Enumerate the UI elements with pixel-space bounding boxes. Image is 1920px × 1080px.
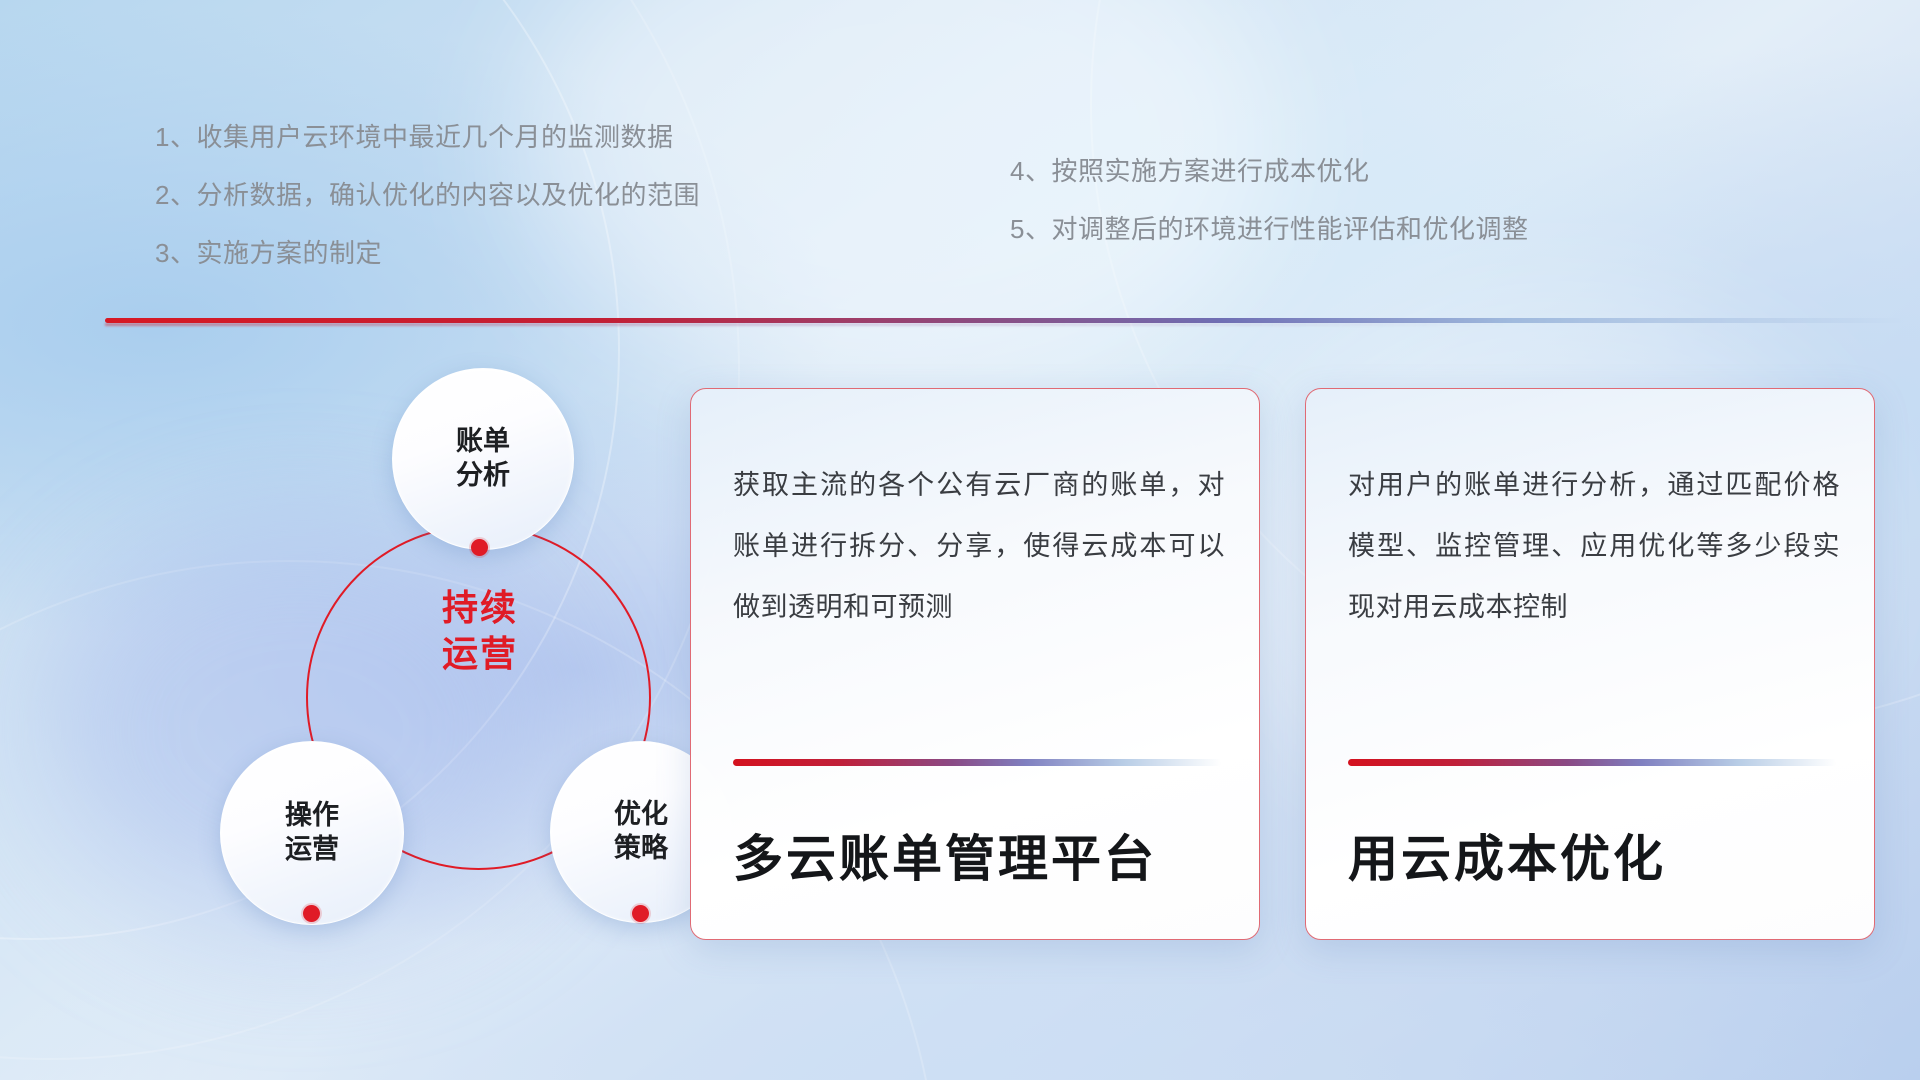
- node-label: 操作 运营: [285, 799, 339, 867]
- card-body-text: 获取主流的各个公有云厂商的账单，对账单进行拆分、分享，使得云成本可以做到透明和可…: [733, 455, 1225, 637]
- diagram-dot-bottom-right: [632, 905, 649, 922]
- center-label-line-2: 运营: [350, 631, 610, 677]
- card-cloud-cost-optimization[interactable]: 对用户的账单进行分析，通过匹配价格模型、监控管理、应用优化等多少段实现对用云成本…: [1305, 388, 1875, 940]
- node-label-line-1: 操作: [285, 799, 339, 833]
- step-item-2: 2、分析数据，确认优化的内容以及优化的范围: [155, 182, 700, 208]
- steps-left-column: 1、收集用户云环境中最近几个月的监测数据 2、分析数据，确认优化的内容以及优化的…: [155, 124, 700, 266]
- diagram-node-bill-analysis[interactable]: 账单 分析: [392, 368, 574, 550]
- center-label-line-1: 持续: [350, 585, 610, 631]
- node-label: 优化 策略: [614, 798, 668, 866]
- node-label-line-1: 优化: [614, 798, 668, 832]
- step-item-3: 3、实施方案的制定: [155, 240, 700, 266]
- card-accent-rule: [733, 759, 1221, 766]
- diagram-dot-top: [471, 539, 488, 556]
- card-accent-rule: [1348, 759, 1836, 766]
- section-divider: [105, 318, 1905, 323]
- node-label-line-2: 策略: [614, 832, 668, 866]
- node-label-line-1: 账单: [456, 425, 510, 459]
- step-item-5: 5、对调整后的环境进行性能评估和优化调整: [1010, 216, 1528, 242]
- node-label: 账单 分析: [456, 425, 510, 493]
- diagram-center-label: 持续 运营: [350, 585, 610, 677]
- card-multi-cloud-billing-platform[interactable]: 获取主流的各个公有云厂商的账单，对账单进行拆分、分享，使得云成本可以做到透明和可…: [690, 388, 1260, 940]
- card-body-text: 对用户的账单进行分析，通过匹配价格模型、监控管理、应用优化等多少段实现对用云成本…: [1348, 455, 1840, 637]
- steps-right-column: 4、按照实施方案进行成本优化 5、对调整后的环境进行性能评估和优化调整: [1010, 158, 1528, 242]
- diagram-dot-bottom-left: [303, 905, 320, 922]
- step-item-1: 1、收集用户云环境中最近几个月的监测数据: [155, 124, 700, 150]
- node-label-line-2: 运营: [285, 833, 339, 867]
- node-label-line-2: 分析: [456, 459, 510, 493]
- card-title: 多云账单管理平台: [733, 819, 1229, 891]
- card-title: 用云成本优化: [1348, 819, 1844, 891]
- continuous-operation-diagram: 持续 运营 账单 分析 操作 运营 优化 策略: [110, 355, 630, 955]
- step-item-4: 4、按照实施方案进行成本优化: [1010, 158, 1528, 184]
- diagram-node-ops-operation[interactable]: 操作 运营: [220, 741, 404, 925]
